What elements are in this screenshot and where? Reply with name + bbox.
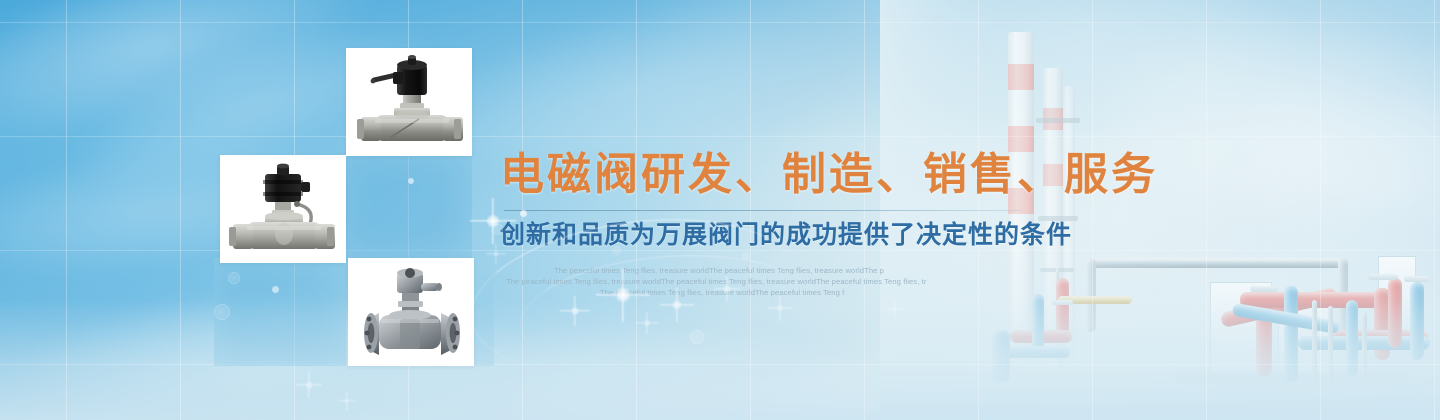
banner-blurb: The peaceful times Teng flies, treasure …: [500, 265, 1100, 298]
product-image-2[interactable]: [220, 155, 346, 263]
headline-divider: [504, 210, 1020, 211]
banner-copy: 电磁阀研发、制造、销售、服务 创新和品质为万展阀门的成功提供了决定性的条件 Th…: [500, 150, 1100, 298]
header-pipe-top: [1086, 258, 1348, 268]
accent-pane-1: [340, 152, 472, 260]
blurb-line-3: The peaceful times Teng flies, treasure …: [500, 287, 1100, 298]
solenoid-valve-flanged-icon: [355, 263, 467, 361]
solenoid-valve-threaded-icon: [353, 53, 465, 151]
blurb-line-2: The peaceful times Teng flies, treasure …: [500, 276, 1100, 287]
product-image-1[interactable]: [346, 48, 472, 156]
accent-pane-2: [214, 258, 346, 366]
blurb-line-1: The peaceful times Teng flies, treasure …: [500, 265, 1100, 276]
banner-subheadline: 创新和品质为万展阀门的成功提供了决定性的条件: [500, 219, 1100, 250]
product-image-3[interactable]: [348, 258, 474, 366]
hero-banner: 电磁阀研发、制造、销售、服务 创新和品质为万展阀门的成功提供了决定性的条件 Th…: [0, 0, 1440, 420]
solenoid-valve-threaded-2-icon: [227, 160, 339, 258]
banner-headline: 电磁阀研发、制造、销售、服务: [500, 150, 1100, 199]
